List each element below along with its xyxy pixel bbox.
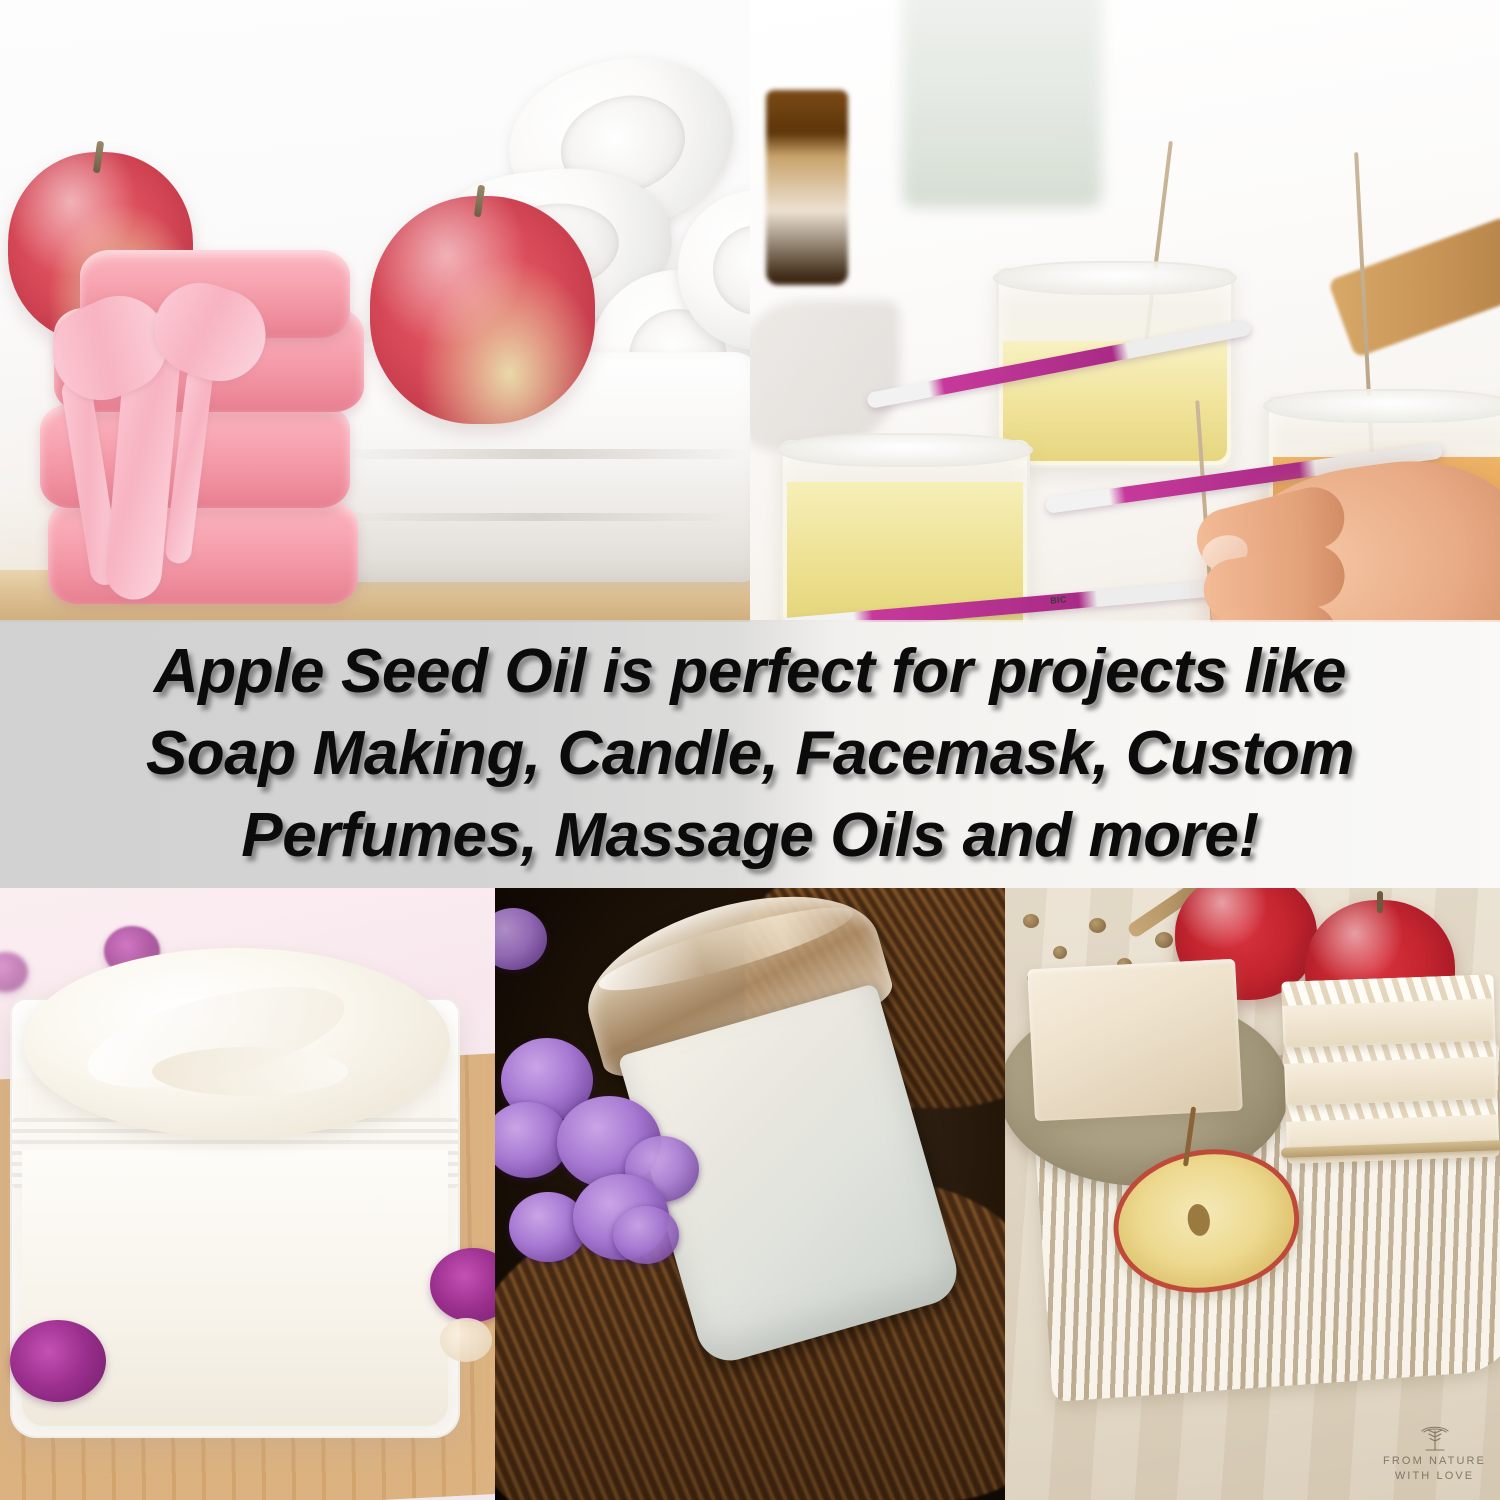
banner-line-3: Perfumes, Massage Oils and more! (241, 795, 1258, 877)
jar-rim-icon (993, 261, 1237, 295)
allspice-berry-icon (1089, 918, 1106, 933)
allspice-berry-icon (1053, 946, 1067, 959)
lilac-flower-icon (495, 908, 547, 970)
panel-lilac-scented-candle (495, 888, 1005, 1500)
panel-pink-soap-bars-with-apples-and-towels (0, 0, 750, 622)
handmade-soap-bar-icon (1281, 975, 1495, 1048)
lilac-flower-icon (613, 1206, 679, 1264)
essential-oil-bottle-icon (766, 90, 848, 285)
banner-line-1: Apple Seed Oil is perfect for projects l… (154, 631, 1346, 713)
product-collage: BIC (0, 0, 1500, 1500)
background-bottle-icon (902, 0, 1102, 208)
jar-rim-icon (777, 433, 1033, 467)
apple-stem-icon (1377, 891, 1383, 913)
apple-core-icon (1186, 1202, 1212, 1237)
dried-flower-icon (10, 1320, 106, 1402)
allspice-berry-icon (1023, 914, 1039, 928)
dried-flower-icon (0, 952, 28, 992)
dried-flower-light-icon (440, 1318, 492, 1362)
collage-bottom-row: FROM NATURE WITH LOVE (0, 888, 1500, 1500)
panel-whipped-body-butter-jar (0, 888, 495, 1500)
candle-jar-icon (780, 440, 1030, 622)
pink-soap-bar-icon (80, 250, 350, 338)
panel-candle-making-workstation: BIC (750, 0, 1500, 622)
pink-soap-bar-icon (48, 500, 358, 604)
pen-brand-label: BIC (1050, 594, 1067, 605)
apple-stem-icon (93, 141, 104, 174)
pink-soap-bar-icon (40, 404, 350, 508)
banner-line-2: Soap Making, Candle, Facemask, Custom (146, 713, 1354, 795)
stacked-soap-bars (1281, 974, 1500, 1197)
handmade-soap-bar-icon (1027, 959, 1243, 1122)
pink-soap-stack (22, 254, 367, 604)
promo-text-banner: Apple Seed Oil is perfect for projects l… (0, 620, 1500, 888)
whipped-butter-swirl-icon (24, 948, 450, 1138)
red-apple-icon (370, 196, 595, 424)
panel-handmade-apple-soap-bars: FROM NATURE WITH LOVE (1005, 888, 1500, 1500)
collage-top-row: BIC (0, 0, 1500, 622)
wooden-board-icon (1328, 216, 1500, 358)
dropper-tool-icon (750, 300, 900, 450)
allspice-berry-icon (1155, 932, 1173, 948)
jar-rim-icon (1263, 389, 1500, 423)
